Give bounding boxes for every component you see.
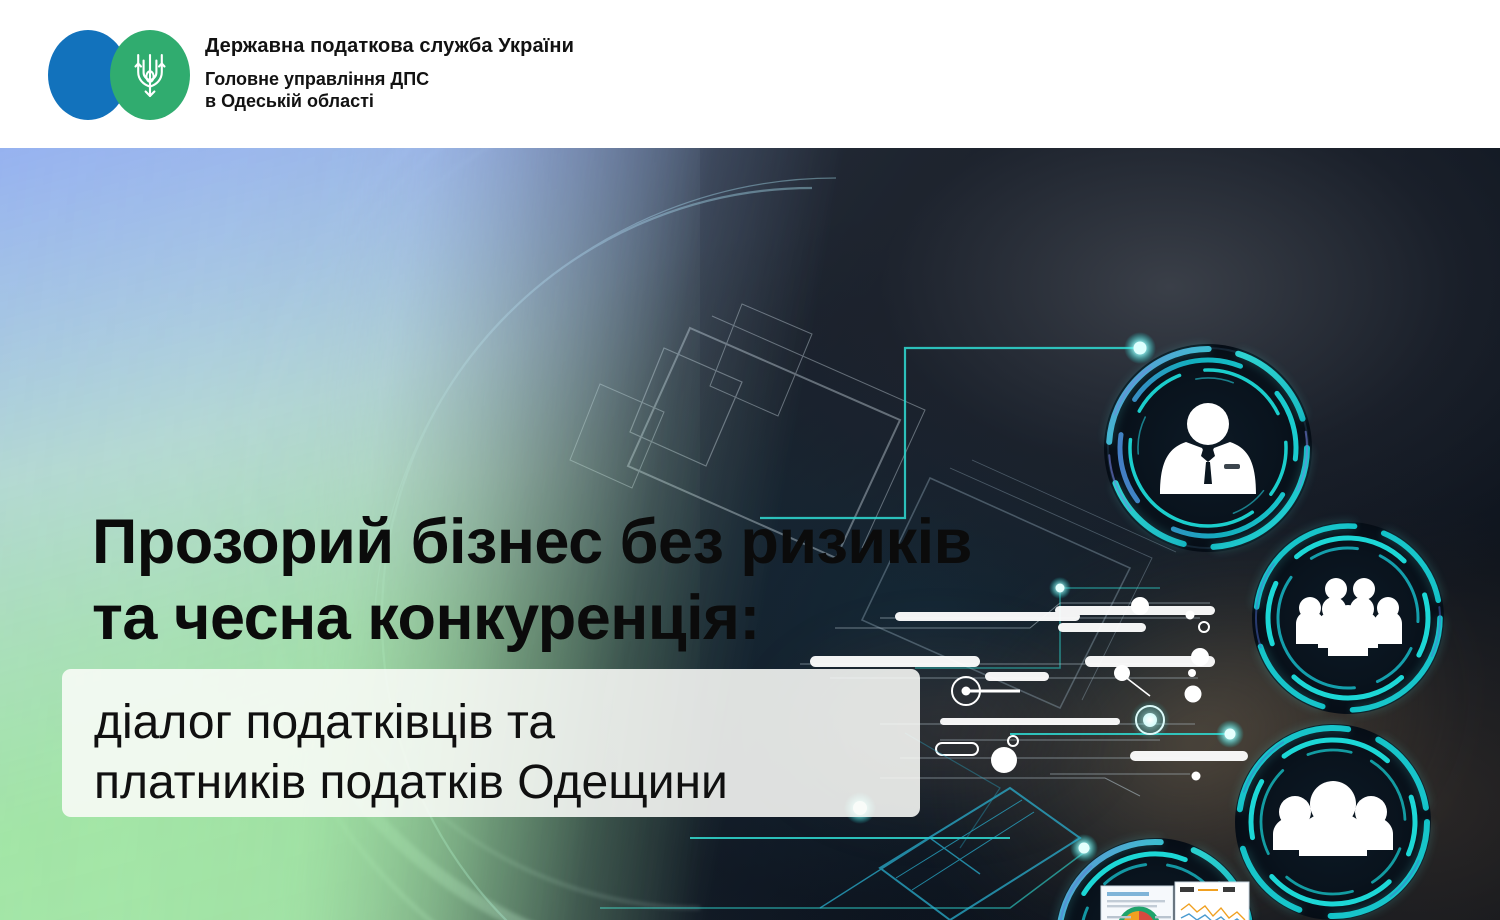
org-sub-line-a: Головне управління ДПС: [205, 69, 429, 89]
title-line-2: та чесна конкуренція:: [92, 580, 1102, 656]
hud-circle-crowd: [1235, 505, 1461, 731]
org-title-sub: Головне управління ДПС в Одеській област…: [205, 68, 574, 112]
subtitle-line-1: діалог податківців та: [94, 693, 904, 753]
page-title: Прозорий бізнес без ризиків та чесна кон…: [92, 504, 1102, 656]
hero-banner: Прозорий бізнес без ризиків та чесна кон…: [0, 148, 1500, 920]
dps-logo: [48, 30, 198, 120]
page-subtitle: діалог податківців та платників податків…: [94, 693, 904, 813]
org-title-main: Державна податкова служба України: [205, 33, 574, 59]
ukraine-trident-icon: [130, 50, 170, 102]
title-line-1: Прозорий бізнес без ризиків: [92, 504, 1102, 580]
banner-root: Державна податкова служба України Головн…: [0, 0, 1500, 920]
subtitle-panel: діалог податківців та платників податків…: [62, 669, 920, 817]
header-org-texts: Державна податкова служба України Головн…: [205, 33, 574, 112]
org-sub-line-b: в Одеській області: [205, 91, 374, 111]
site-header: Державна податкова служба України Головн…: [0, 0, 1500, 148]
subtitle-line-2: платників податків Одещини: [94, 753, 904, 813]
